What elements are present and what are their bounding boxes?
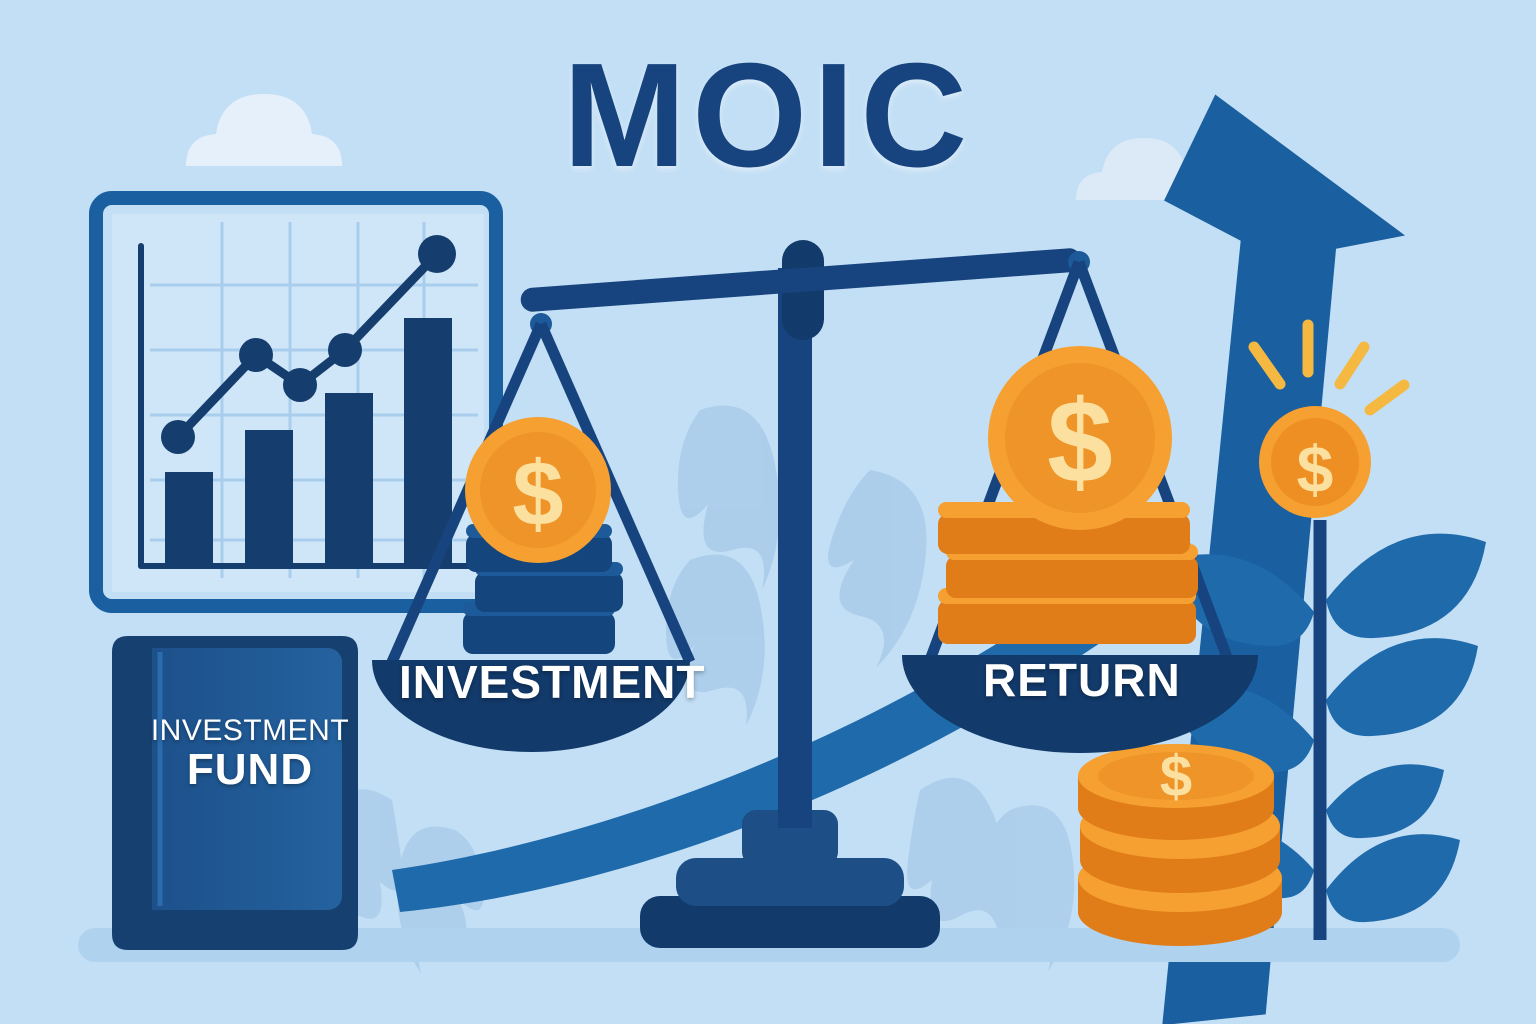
pan-label-return: RETURN: [983, 653, 1181, 707]
book-label-line1: INVESTMENT: [150, 715, 350, 747]
dollar-symbol: $: [1297, 432, 1334, 506]
dollar-symbol: $: [512, 443, 563, 545]
dollar-symbol: $: [1047, 376, 1113, 508]
chart-panel: [96, 198, 496, 606]
illustration-canvas: $ $: [0, 0, 1536, 1024]
coin-left: $: [465, 417, 611, 563]
coin-right: $: [988, 346, 1172, 530]
book-cover-label: INVESTMENT FUND: [150, 715, 350, 793]
dollar-symbol: $: [1160, 744, 1192, 809]
coin-stack-bottom-right: $: [1078, 744, 1282, 946]
pan-label-investment: INVESTMENT: [399, 655, 705, 709]
page-title: MOIC: [0, 42, 1536, 190]
scale-pole: [778, 268, 812, 828]
book-label-line2: FUND: [150, 747, 350, 794]
